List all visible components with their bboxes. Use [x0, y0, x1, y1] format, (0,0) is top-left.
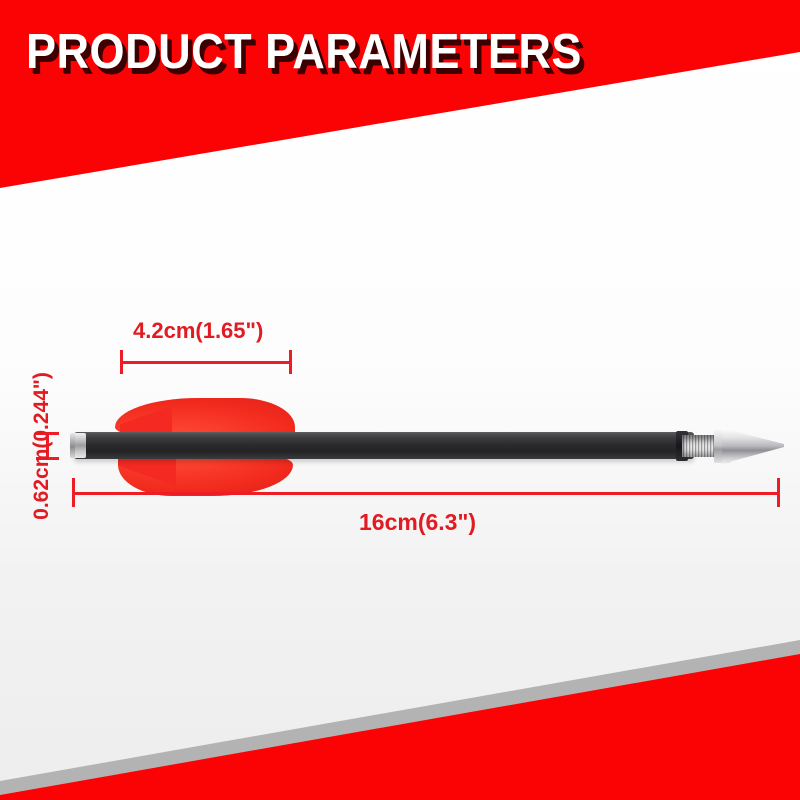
steel-point-tip	[722, 428, 784, 464]
fletching-dimension-line	[120, 361, 292, 364]
overall-dimension-tick-left	[72, 478, 75, 507]
overall-dimension-line	[72, 492, 780, 495]
shaft-diameter-label: 0.62cm(0.244")	[30, 341, 54, 551]
carbon-shaft	[74, 432, 694, 459]
product-parameters-infographic: PRODUCT PARAMETERS 4.2cm(1.65") 16cm(6.3…	[0, 0, 800, 800]
fletching-length-label: 4.2cm(1.65")	[133, 318, 263, 344]
fletching-dimension-tick-right	[289, 350, 292, 374]
overall-dimension-tick-right	[777, 478, 780, 507]
fletching-dimension-tick-left	[120, 350, 123, 374]
nock-end-cap	[70, 433, 75, 458]
overall-length-label: 16cm(6.3")	[359, 509, 476, 536]
